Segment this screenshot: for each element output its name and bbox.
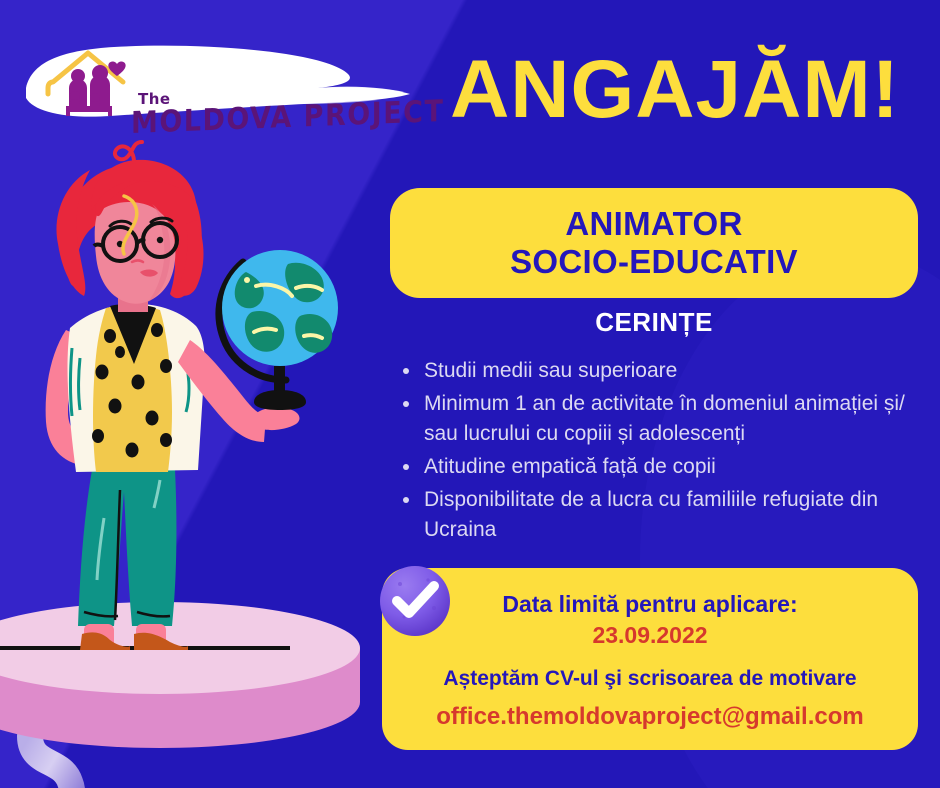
list-item: Disponibilitate de a lucra cu familiile … xyxy=(392,485,932,545)
deadline-date: 23.09.2022 xyxy=(592,622,707,649)
page-title: ANGAJĂM! xyxy=(440,40,910,140)
list-item: Studii medii sau superioare xyxy=(392,356,932,386)
house-family-heart-icon xyxy=(42,44,134,120)
list-item: Atitudine empatică față de copii xyxy=(392,452,932,482)
job-poster: The MOLDOVA PROJECT ANGAJĂM! ANIMATOR SO… xyxy=(0,0,940,788)
woman-holding-globe-illustration xyxy=(0,140,380,788)
pink-cylinder-platform xyxy=(0,602,360,748)
right-eye xyxy=(157,237,163,243)
hair-curl xyxy=(115,142,142,162)
logo: The MOLDOVA PROJECT xyxy=(18,36,418,136)
globe-icon xyxy=(219,250,338,410)
list-item: Minimum 1 an de activitate în domeniul a… xyxy=(392,389,932,449)
requirements-heading: CERINȚE xyxy=(390,307,918,338)
job-title-box: ANIMATOR SOCIO-EDUCATIV xyxy=(390,188,918,298)
legs xyxy=(78,470,176,626)
check-circle-icon xyxy=(376,562,454,640)
job-title-line-1: ANIMATOR xyxy=(565,205,742,243)
send-instruction: Așteptăm CV-ul şi scrisoarea de motivare xyxy=(443,667,856,691)
deadline-label: Data limită pentru aplicare: xyxy=(502,591,797,618)
right-hand xyxy=(255,407,300,430)
job-title-line-2: SOCIO-EDUCATIV xyxy=(510,243,798,281)
contact-box: Data limită pentru aplicare: 23.09.2022 … xyxy=(382,568,918,750)
requirements-list: Studii medii sau superioare Minimum 1 an… xyxy=(392,356,932,548)
contact-email[interactable]: office.themoldovaproject@gmail.com xyxy=(436,703,863,731)
lavender-wave-ribbon xyxy=(30,736,72,788)
